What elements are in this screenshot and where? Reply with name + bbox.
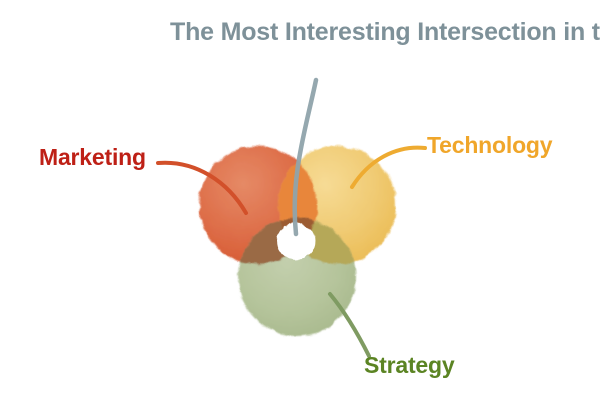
- diagram-canvas: The Most Interesting Intersection in the…: [0, 0, 600, 409]
- venn-label-technology: Technology: [427, 132, 552, 159]
- venn-label-strategy: Strategy: [364, 352, 454, 379]
- page-title: The Most Interesting Intersection in the…: [170, 18, 490, 48]
- venn-diagram-graphic: [0, 0, 600, 409]
- venn-label-marketing: Marketing: [39, 144, 146, 171]
